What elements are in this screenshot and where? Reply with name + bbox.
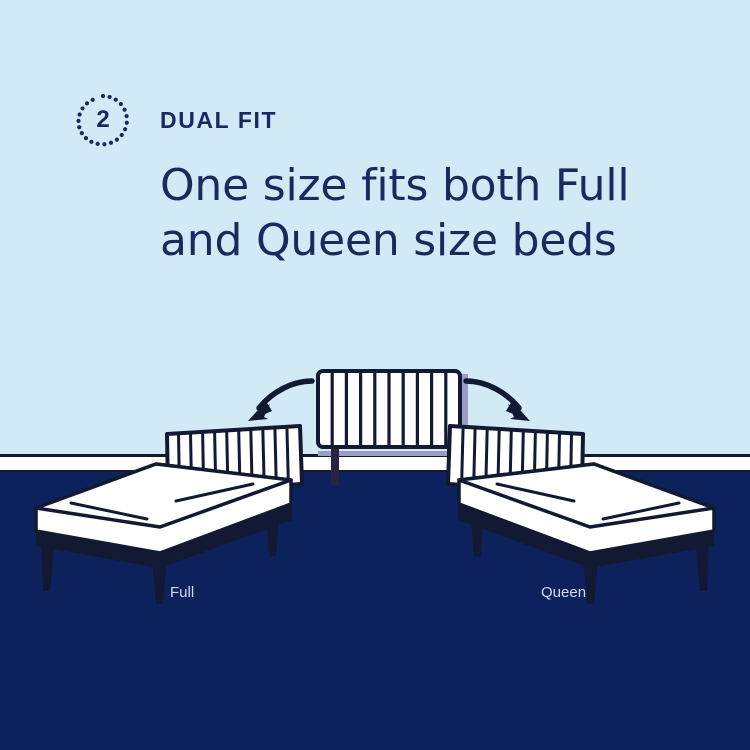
- poster-root: 2 DUAL FIT One size fits both Full and Q…: [0, 0, 750, 750]
- baseboard-strip: [0, 455, 750, 472]
- illustration-scene: [0, 0, 750, 750]
- center-headboard-shadow-bottom: [318, 451, 468, 456]
